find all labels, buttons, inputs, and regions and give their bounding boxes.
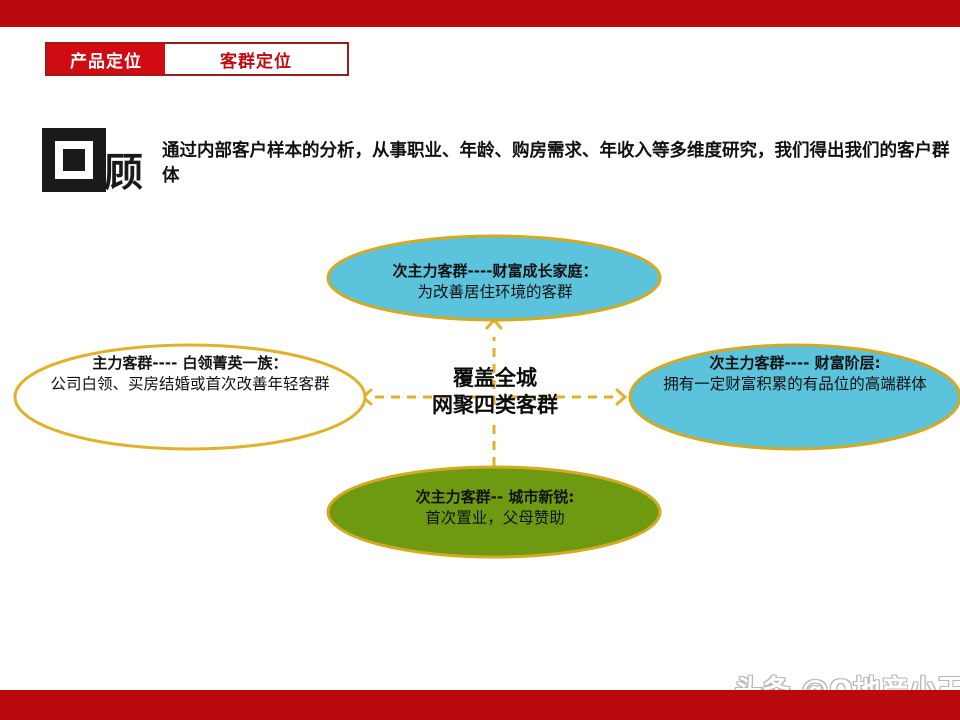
node-label-top: 次主力客群----财富成长家庭： 为改善居住环境的客群 bbox=[340, 262, 650, 302]
customer-segment-diagram: 次主力客群----财富成长家庭： 为改善居住环境的客群 主力客群---- 白领菁… bbox=[0, 215, 960, 585]
headline-text: 通过内部客户样本的分析，从事职业、年龄、购房需求、年收入等多维度研究，我们得出我… bbox=[162, 139, 952, 190]
node-body-bottom: 首次置业，父母赞助 bbox=[345, 508, 645, 528]
center-line-2: 网聚四类客群 bbox=[400, 392, 590, 419]
section-tabs: 产品定位 客群定位 bbox=[45, 42, 349, 76]
node-label-bottom: 次主力客群-- 城市新锐: 首次置业，父母赞助 bbox=[345, 488, 645, 528]
top-red-bar bbox=[0, 0, 960, 27]
tab-customer-positioning[interactable]: 客群定位 bbox=[165, 44, 347, 74]
node-body-top: 为改善居住环境的客群 bbox=[340, 282, 650, 302]
node-label-right: 次主力客群---- 财富阶层: 拥有一定财富积累的有品位的高端群体 bbox=[650, 354, 940, 394]
review-logo: 顾 bbox=[42, 128, 152, 200]
node-body-right: 拥有一定财富积累的有品位的高端群体 bbox=[650, 374, 940, 394]
node-body-left: 公司白领、买房结婚或首次改善年轻客群 bbox=[40, 374, 340, 394]
bottom-red-bar bbox=[0, 690, 960, 720]
review-logo-char: 顾 bbox=[104, 154, 143, 193]
node-title-right: 次主力客群---- 财富阶层: bbox=[650, 354, 940, 374]
diagram-center-label: 覆盖全城 网聚四类客群 bbox=[400, 365, 590, 420]
arrowhead-right-icon bbox=[617, 390, 625, 404]
node-label-left: 主力客群---- 白领菁英一族： 公司白领、买房结婚或首次改善年轻客群 bbox=[40, 354, 340, 394]
node-title-left: 主力客群---- 白领菁英一族： bbox=[40, 354, 340, 374]
node-title-bottom: 次主力客群-- 城市新锐: bbox=[345, 488, 645, 508]
node-title-top: 次主力客群----财富成长家庭： bbox=[340, 262, 650, 282]
tab-product-positioning[interactable]: 产品定位 bbox=[47, 44, 165, 74]
square-glyph-icon bbox=[42, 128, 106, 192]
center-line-1: 覆盖全城 bbox=[400, 365, 590, 392]
